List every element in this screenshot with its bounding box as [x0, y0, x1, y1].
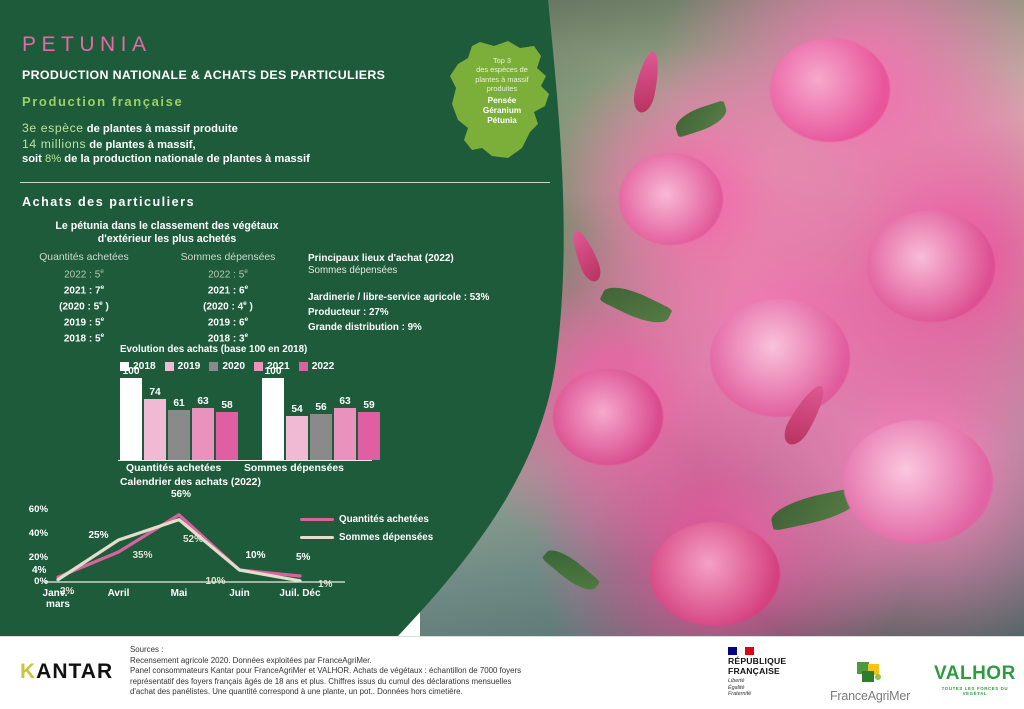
- bar-value-label: 100: [258, 366, 288, 377]
- production-fact-2-highlight: 14 millions: [22, 137, 86, 151]
- production-fact-3-text: de la production nationale de plantes à …: [64, 153, 310, 165]
- legend-label: Quantités achetées: [339, 514, 429, 525]
- french-flag-icon: [728, 647, 754, 655]
- data-point-label: 10%: [206, 576, 226, 587]
- bar-category-label: Sommes dépensées: [244, 463, 344, 474]
- ranking-heading-line-1: Le pétunia dans le classement des végéta…: [22, 220, 312, 233]
- bar-chart: 1007461635810054566359: [120, 378, 370, 460]
- valhor-tagline: TOUTES LES FORCES DU VÉGÉTAL: [934, 686, 1016, 696]
- ranking-column-quantites: Quantités achetées 2022 : 5e 2021 : 7e (…: [18, 252, 150, 346]
- ordinal-suffix: e: [101, 284, 105, 291]
- partner-logos: RÉPUBLIQUE FRANÇAISE Liberté Égalité Fra…: [724, 645, 1014, 703]
- lieux-achat-list: Jardinerie / libre-service agricole : 53…: [308, 290, 548, 335]
- x-axis-tick: Janv. -mars: [23, 588, 93, 610]
- kantar-logo-text: ANTAR: [36, 660, 113, 683]
- section-divider: [20, 182, 550, 183]
- production-fact-2-text: de plantes à massif,: [89, 139, 195, 151]
- bar: [310, 414, 332, 460]
- ordinal-suffix: e: [245, 284, 249, 291]
- production-fact-3-prefix: soit: [22, 153, 42, 165]
- valhor-logo: VALHOR TOUTES LES FORCES DU VÉGÉTAL: [934, 663, 1016, 696]
- bar: [168, 410, 190, 460]
- y-axis-tick: 60%: [12, 504, 48, 515]
- bar: [120, 378, 142, 460]
- page-subtitle: PRODUCTION NATIONALE & ACHATS DES PARTIC…: [22, 68, 385, 82]
- legend-swatch: [299, 362, 308, 371]
- x-axis-tick: Juil. Déc: [265, 588, 335, 599]
- ranking-heading: Le pétunia dans le classement des végéta…: [22, 220, 312, 246]
- republique-francaise-motto: Liberté Égalité Fraternité: [728, 678, 786, 697]
- data-point-label: 4%: [32, 565, 46, 576]
- bar-value-label: 59: [354, 400, 384, 411]
- data-point-label: 56%: [171, 489, 191, 500]
- legend-swatch: [209, 362, 218, 371]
- kantar-logo: KANTAR: [20, 660, 113, 684]
- ranking-row: 2022 : 5e: [18, 266, 150, 282]
- ordinal-suffix: e: [100, 268, 104, 275]
- bar: [216, 412, 238, 460]
- legend-item: Quantités achetées: [300, 514, 433, 525]
- ranking-row: 2022 : 5e: [158, 266, 298, 282]
- ranking-row: 2019 : 5e: [18, 314, 150, 330]
- sources-line: représentatif des foyers français âgés d…: [130, 677, 710, 688]
- franceagrimer-mark-icon: [853, 661, 887, 687]
- bar-chart-axis: [118, 460, 372, 461]
- data-point-label: 10%: [246, 550, 266, 561]
- ranking-heading-line-2: d'extérieur les plus achetés: [22, 233, 312, 246]
- bar: [358, 412, 380, 460]
- legend-item: 2022: [299, 361, 335, 372]
- ordinal-suffix: e: [101, 332, 105, 339]
- ranking-row: 2019 : 6e: [158, 314, 298, 330]
- ranking-row: 2021 : 7e: [18, 282, 150, 298]
- bar-value-label: 74: [140, 387, 170, 398]
- bar: [334, 408, 356, 460]
- data-point-label: 5%: [296, 552, 310, 563]
- production-fact-3: soit 8% de la production nationale de pl…: [22, 152, 310, 167]
- lieux-achat-title: Principaux lieux d'achat (2022): [308, 253, 548, 264]
- legend-line-swatch: [300, 518, 334, 522]
- ordinal-suffix: e: [245, 332, 249, 339]
- legend-swatch: [165, 362, 174, 371]
- legend-label: 2022: [312, 361, 335, 372]
- sources-label: Sources :: [130, 645, 710, 656]
- x-axis-tick: Juin: [205, 588, 275, 599]
- bar: [144, 399, 166, 460]
- line-chart-title: Calendrier des achats (2022): [120, 477, 261, 488]
- franceagrimer-logo: FranceAgriMer: [830, 661, 910, 703]
- production-fact-1-text: de plantes à massif produite: [87, 123, 238, 135]
- production-fact-3-highlight: 8%: [45, 153, 61, 165]
- kantar-logo-k: K: [20, 660, 36, 683]
- production-fact-2: 14 millions de plantes à massif,: [22, 137, 310, 153]
- x-axis-tick: Mai: [144, 588, 214, 599]
- ranking-row: 2021 : 6e: [158, 282, 298, 298]
- republique-francaise-logo: RÉPUBLIQUE FRANÇAISE Liberté Égalité Fra…: [728, 647, 786, 697]
- sources-line: Recensement agricole 2020. Données explo…: [130, 656, 710, 667]
- ranking-column-header: Sommes dépensées: [158, 252, 298, 263]
- page-title: PETUNIA: [22, 33, 152, 57]
- franceagrimer-name: FranceAgriMer: [830, 689, 910, 703]
- ordinal-suffix: e: [101, 316, 105, 323]
- bar: [286, 416, 308, 460]
- production-facts: 3e espèce de plantes à massif produite 1…: [22, 121, 310, 167]
- valhor-name: VALHOR: [934, 663, 1016, 685]
- sources-line: Panel consommateurs Kantar pour FranceAg…: [130, 666, 710, 677]
- green-content-panel: PETUNIA PRODUCTION NATIONALE & ACHATS DE…: [0, 0, 600, 636]
- france-map: Top 3 des espèces de plantes à massif pr…: [442, 36, 562, 164]
- ranking-column-header: Quantités achetées: [18, 252, 150, 263]
- ordinal-suffix: e: [244, 268, 248, 275]
- production-fact-1: 3e espèce de plantes à massif produite: [22, 121, 310, 137]
- ranking-row: (2020 : 5e ): [18, 298, 150, 314]
- bar: [192, 408, 214, 460]
- bar-category-label: Quantités achetées: [126, 463, 221, 474]
- infographic-page: PETUNIA PRODUCTION NATIONALE & ACHATS DE…: [0, 0, 1024, 709]
- legend-label: 2019: [178, 361, 201, 372]
- sources-line: d'achat des panélistes. Une quantité cor…: [130, 687, 710, 698]
- section-title-achats: Achats des particuliers: [22, 195, 195, 209]
- y-axis-tick: 0%: [12, 576, 48, 587]
- legend-label: Sommes dépensées: [339, 532, 433, 543]
- footer: KANTAR Sources : Recensement agricole 20…: [0, 636, 1024, 709]
- list-item: Producteur : 27%: [308, 305, 548, 320]
- bar-chart-title: Evolution des achats (base 100 en 2018): [120, 344, 307, 355]
- data-point-label: 52%: [183, 534, 203, 545]
- legend-item: Sommes dépensées: [300, 532, 433, 543]
- legend-item: 2020: [209, 361, 245, 372]
- x-axis-tick: Avril: [84, 588, 154, 599]
- section-title-production: Production française: [22, 94, 183, 109]
- y-axis-tick: 40%: [12, 528, 48, 539]
- line-series: [58, 515, 300, 577]
- ranking-row: (2020 : 4e ): [158, 298, 298, 314]
- sources-text: Sources : Recensement agricole 2020. Don…: [130, 645, 710, 698]
- republique-francaise-name: RÉPUBLIQUE FRANÇAISE: [728, 657, 786, 676]
- bar-value-label: 100: [116, 366, 146, 377]
- ordinal-suffix: e: [245, 316, 249, 323]
- bar-chart-legend: 2018 2019 2020 2021 2022: [120, 361, 334, 372]
- lieux-achat-subtitle: Sommes dépensées: [308, 265, 548, 276]
- y-axis-tick: 20%: [12, 552, 48, 563]
- legend-label: 2020: [222, 361, 245, 372]
- lieux-achat-block: Principaux lieux d'achat (2022) Sommes d…: [308, 253, 548, 335]
- bar-value-label: 58: [212, 400, 242, 411]
- production-fact-1-highlight: 3e espèce: [22, 121, 84, 135]
- france-map-icon: [442, 36, 562, 164]
- list-item: Grande distribution : 9%: [308, 320, 548, 335]
- rf-line-2: FRANÇAISE: [728, 667, 786, 677]
- legend-line-swatch: [300, 536, 334, 540]
- data-point-label: 25%: [89, 530, 109, 541]
- list-item: Jardinerie / libre-service agricole : 53…: [308, 290, 548, 305]
- legend-item: 2019: [165, 361, 201, 372]
- data-point-label: 35%: [133, 550, 153, 561]
- line-chart-legend: Quantités achetées Sommes dépensées: [300, 514, 433, 550]
- motto-fraternite: Fraternité: [728, 691, 786, 697]
- ranking-column-sommes: Sommes dépensées 2022 : 5e 2021 : 6e (20…: [158, 252, 298, 346]
- bar: [262, 378, 284, 460]
